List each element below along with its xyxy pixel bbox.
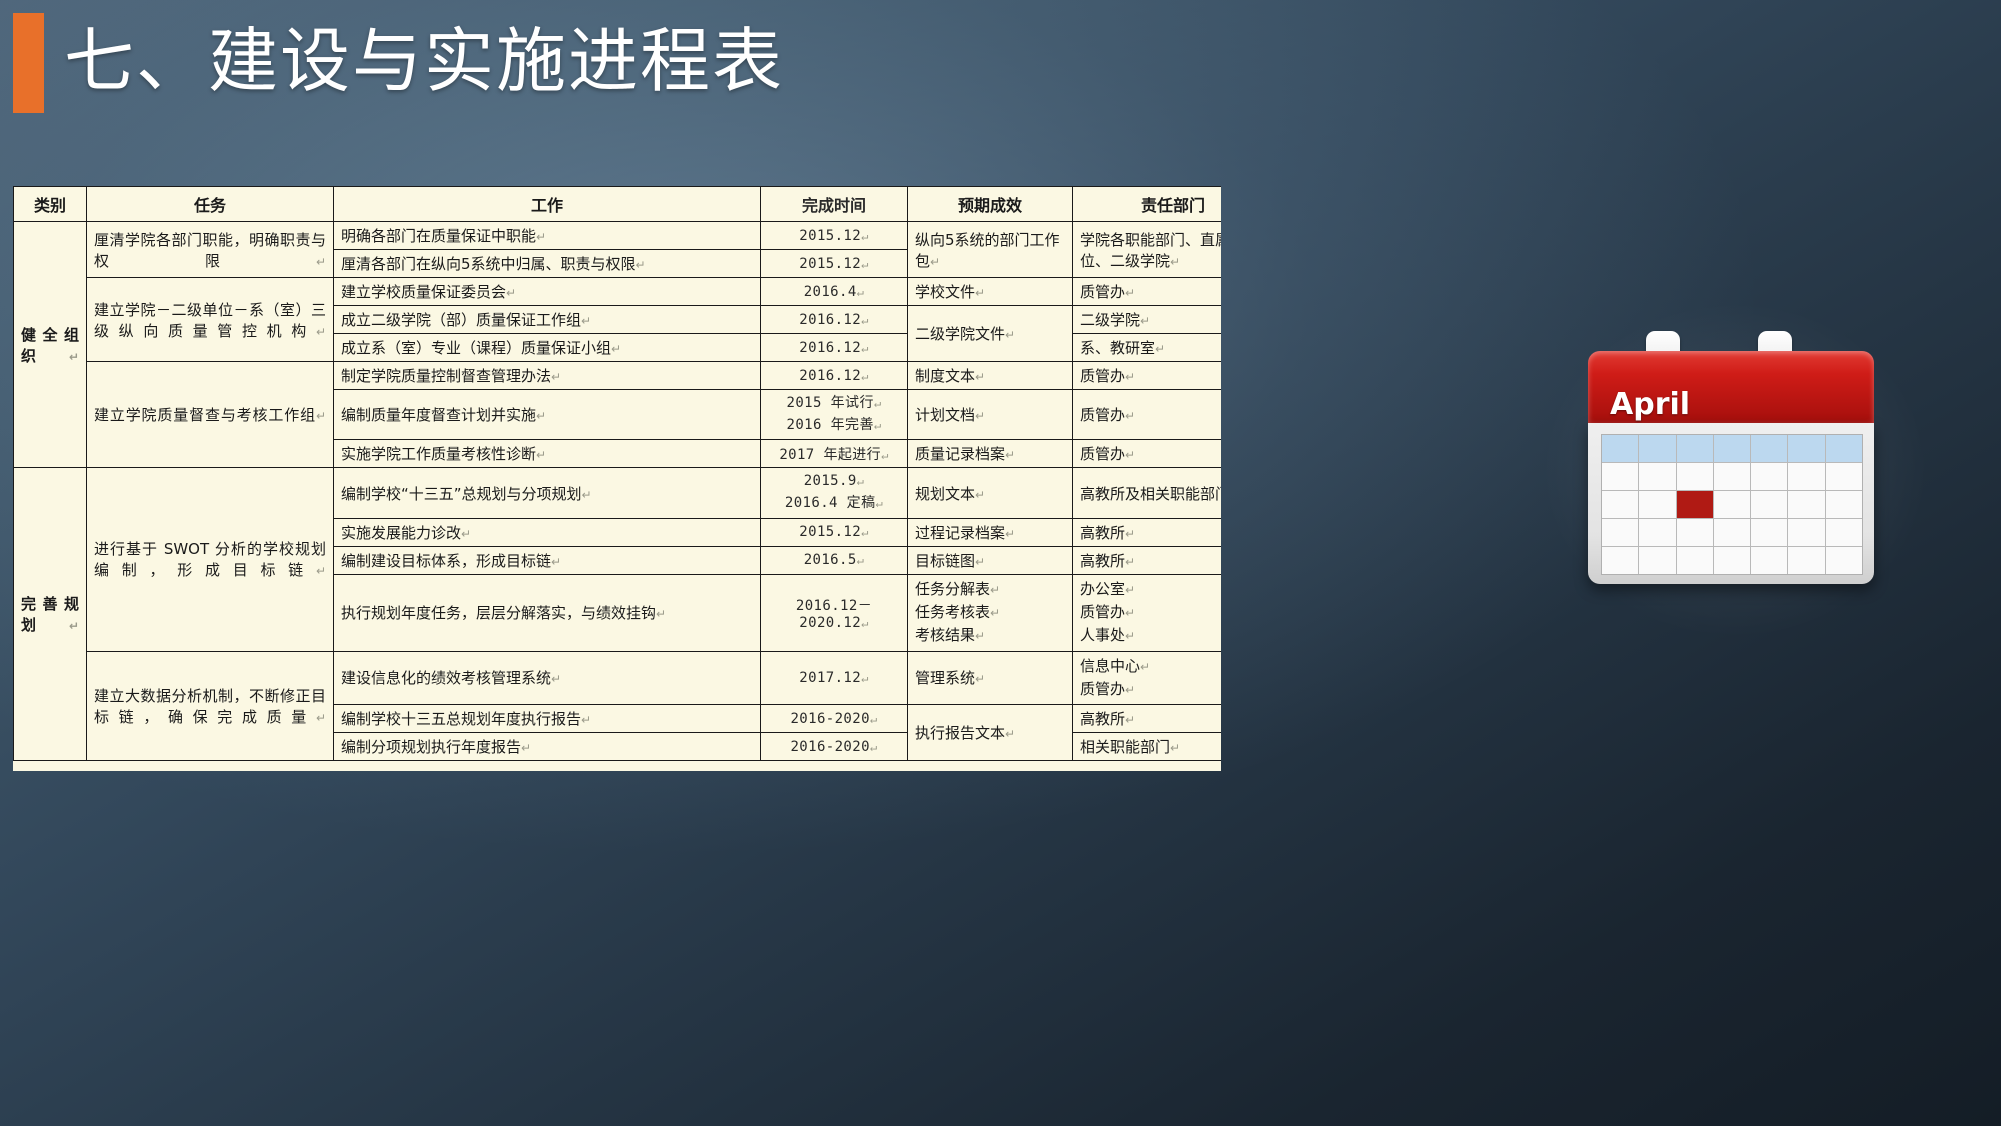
cell-task: 厘清学院各部门职能，明确职责与权限↵ <box>87 222 334 278</box>
calendar-body <box>1588 423 1874 584</box>
table-row: 建立大数据分析机制，不断修正目标链，确保完成质量↵建设信息化的绩效考核管理系统↵… <box>14 651 1222 705</box>
calendar-month-label: April <box>1610 387 1690 422</box>
table-header-row: 类别 任务 工作 完成时间 预期成效 责任部门 <box>14 187 1222 222</box>
cell-effect: 任务分解表↵任务考核表↵考核结果↵ <box>908 574 1073 651</box>
cell-time: 2017 年起进行↵ <box>761 440 908 468</box>
cell-dept: 高教所↵ <box>1073 518 1222 546</box>
schedule-table: 类别 任务 工作 完成时间 预期成效 责任部门 健全组织↵厘清学院各部门职能，明… <box>13 186 1221 761</box>
cell-time: 2016.12↵ <box>761 334 908 362</box>
calendar-day-cell <box>1714 463 1750 490</box>
cell-effect: 执行报告文本↵ <box>908 705 1073 761</box>
table-row: 健全组织↵厘清学院各部门职能，明确职责与权限↵明确各部门在质量保证中职能↵201… <box>14 222 1222 250</box>
cell-time: 2016.5↵ <box>761 546 908 574</box>
cell-category: 完善规划↵ <box>14 468 87 761</box>
cell-time: 2016.12－2020.12↵ <box>761 574 908 651</box>
cell-effect: 管理系统↵ <box>908 651 1073 705</box>
cell-dept: 高教所及相关职能部门↵ <box>1073 468 1222 518</box>
calendar-day-cell <box>1788 491 1824 518</box>
cell-dept: 二级学院↵ <box>1073 306 1222 334</box>
table-row: 建立学院－二级单位－系（室）三级纵向质量管控机构↵建立学校质量保证委员会↵201… <box>14 278 1222 306</box>
cell-time: 2016-2020↵ <box>761 733 908 761</box>
cell-dept: 质管办↵ <box>1073 390 1222 440</box>
cell-work: 执行规划年度任务，层层分解落实，与绩效挂钩↵ <box>334 574 761 651</box>
cell-work: 建设信息化的绩效考核管理系统↵ <box>334 651 761 705</box>
cell-time: 2017.12↵ <box>761 651 908 705</box>
cell-work: 明确各部门在质量保证中职能↵ <box>334 222 761 250</box>
calendar-day-cell <box>1788 547 1824 574</box>
cell-time: 2015.12↵ <box>761 222 908 250</box>
table-head: 类别 任务 工作 完成时间 预期成效 责任部门 <box>14 187 1222 222</box>
cell-effect: 计划文档↵ <box>908 390 1073 440</box>
cell-work: 成立系（室）专业（课程）质量保证小组↵ <box>334 334 761 362</box>
cell-time: 2016.4↵ <box>761 278 908 306</box>
cell-task: 进行基于 SWOT 分析的学校规划编制，形成目标链↵ <box>87 468 334 651</box>
cell-work: 厘清各部门在纵向5系统中归属、职责与权限↵ <box>334 250 761 278</box>
calendar-day-cell <box>1788 463 1824 490</box>
cell-dept: 学院各职能部门、直属单位、二级学院↵ <box>1073 222 1222 278</box>
cell-task: 建立学院－二级单位－系（室）三级纵向质量管控机构↵ <box>87 278 334 362</box>
cell-time: 2015 年试行↵2016 年完善↵ <box>761 390 908 440</box>
calendar-day-cell <box>1826 547 1862 574</box>
col-header-category: 类别 <box>14 187 87 222</box>
cell-task: 建立大数据分析机制，不断修正目标链，确保完成质量↵ <box>87 651 334 761</box>
col-header-time: 完成时间 <box>761 187 908 222</box>
cell-work: 实施发展能力诊改↵ <box>334 518 761 546</box>
cell-time: 2016.12↵ <box>761 306 908 334</box>
slide-canvas: 七、建设与实施进程表 April 类别 任务 工作 完成时间 预期成效 责任部门 <box>0 0 2001 1126</box>
calendar-day-cell <box>1677 519 1713 546</box>
cell-time: 2016-2020↵ <box>761 705 908 733</box>
calendar-weekday-cell <box>1639 435 1675 462</box>
calendar-grid <box>1601 434 1863 575</box>
cell-dept: 系、教研室↵ <box>1073 334 1222 362</box>
calendar-day-cell <box>1714 491 1750 518</box>
cell-dept: 质管办↵ <box>1073 278 1222 306</box>
cell-effect: 过程记录档案↵ <box>908 518 1073 546</box>
calendar-day-cell <box>1639 491 1675 518</box>
cell-effect: 纵向5系统的部门工作包↵ <box>908 222 1073 278</box>
cell-effect: 二级学院文件↵ <box>908 306 1073 362</box>
calendar-day-cell <box>1751 491 1787 518</box>
cell-dept: 相关职能部门↵ <box>1073 733 1222 761</box>
cell-work: 建立学校质量保证委员会↵ <box>334 278 761 306</box>
cell-dept: 信息中心↵质管办↵ <box>1073 651 1222 705</box>
calendar-weekday-cell <box>1788 435 1824 462</box>
cell-work: 实施学院工作质量考核性诊断↵ <box>334 440 761 468</box>
calendar-weekday-cell <box>1826 435 1862 462</box>
calendar-day-cell <box>1826 463 1862 490</box>
cell-time: 2015.12↵ <box>761 250 908 278</box>
calendar-day-cell <box>1677 463 1713 490</box>
calendar-day-cell <box>1677 547 1713 574</box>
cell-work: 编制分项规划执行年度报告↵ <box>334 733 761 761</box>
calendar-day-cell <box>1602 491 1638 518</box>
cell-work: 编制建设目标体系，形成目标链↵ <box>334 546 761 574</box>
cell-effect: 目标链图↵ <box>908 546 1073 574</box>
calendar-weekday-cell <box>1602 435 1638 462</box>
table-row: 完善规划↵进行基于 SWOT 分析的学校规划编制，形成目标链↵编制学校“十三五”… <box>14 468 1222 518</box>
calendar-weekday-cell <box>1677 435 1713 462</box>
col-header-work: 工作 <box>334 187 761 222</box>
page-title: 七、建设与实施进程表 <box>64 11 784 111</box>
calendar-weekday-cell <box>1751 435 1787 462</box>
col-header-task: 任务 <box>87 187 334 222</box>
cell-dept: 高教所↵ <box>1073 546 1222 574</box>
calendar-day-cell <box>1826 519 1862 546</box>
cell-task: 建立学院质量督查与考核工作组↵ <box>87 362 334 468</box>
cell-work: 编制质量年度督查计划并实施↵ <box>334 390 761 440</box>
calendar-icon: April <box>1588 351 1874 584</box>
cell-effect: 制度文本↵ <box>908 362 1073 390</box>
calendar-day-cell <box>1751 547 1787 574</box>
cell-dept: 质管办↵ <box>1073 362 1222 390</box>
cell-category: 健全组织↵ <box>14 222 87 468</box>
col-header-dept: 责任部门 <box>1073 187 1222 222</box>
cell-time: 2015.9↵2016.4 定稿↵ <box>761 468 908 518</box>
cell-effect: 规划文本↵ <box>908 468 1073 518</box>
calendar-day-cell <box>1639 519 1675 546</box>
cell-effect: 质量记录档案↵ <box>908 440 1073 468</box>
schedule-table-panel: 类别 任务 工作 完成时间 预期成效 责任部门 健全组织↵厘清学院各部门职能，明… <box>13 186 1221 771</box>
cell-dept: 质管办↵ <box>1073 440 1222 468</box>
cell-work: 编制学校“十三五”总规划与分项规划↵ <box>334 468 761 518</box>
calendar-day-cell <box>1714 519 1750 546</box>
calendar-day-cell <box>1639 463 1675 490</box>
calendar-day-cell <box>1602 547 1638 574</box>
cell-work: 制定学院质量控制督查管理办法↵ <box>334 362 761 390</box>
cell-dept: 办公室↵质管办↵人事处↵ <box>1073 574 1222 651</box>
cell-work: 成立二级学院（部）质量保证工作组↵ <box>334 306 761 334</box>
cell-work: 编制学校十三五总规划年度执行报告↵ <box>334 705 761 733</box>
cell-dept: 高教所↵ <box>1073 705 1222 733</box>
calendar-day-cell <box>1751 463 1787 490</box>
calendar-day-cell <box>1751 519 1787 546</box>
cell-time: 2016.12↵ <box>761 362 908 390</box>
calendar-selected-day <box>1677 491 1713 518</box>
calendar-day-cell <box>1602 463 1638 490</box>
calendar-day-cell <box>1826 491 1862 518</box>
col-header-effect: 预期成效 <box>908 187 1073 222</box>
calendar-day-cell <box>1602 519 1638 546</box>
table-row: 建立学院质量督查与考核工作组↵制定学院质量控制督查管理办法↵2016.12↵制度… <box>14 362 1222 390</box>
calendar-day-cell <box>1639 547 1675 574</box>
calendar-day-cell <box>1714 547 1750 574</box>
title-accent-bar <box>13 13 44 113</box>
cell-time: 2015.12↵ <box>761 518 908 546</box>
cell-effect: 学校文件↵ <box>908 278 1073 306</box>
table-body: 健全组织↵厘清学院各部门职能，明确职责与权限↵明确各部门在质量保证中职能↵201… <box>14 222 1222 761</box>
calendar-weekday-cell <box>1714 435 1750 462</box>
calendar-day-cell <box>1788 519 1824 546</box>
calendar-header: April <box>1588 351 1874 423</box>
